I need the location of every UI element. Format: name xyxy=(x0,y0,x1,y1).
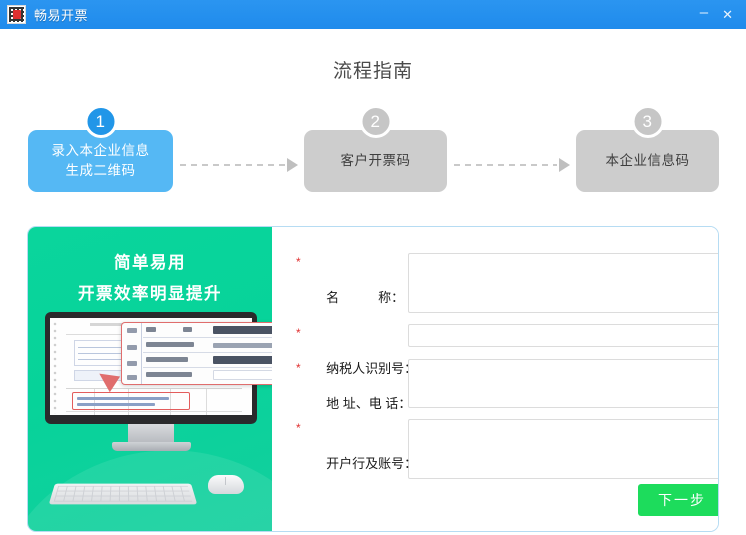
step-2-number: 2 xyxy=(359,105,392,138)
label-name: * 名 称： xyxy=(290,253,408,325)
keyboard-keys xyxy=(54,486,193,502)
invoice-footer-rule xyxy=(66,411,242,412)
promo-panel: 简单易用 开票效率明显提升 xyxy=(28,227,272,531)
dashed-line xyxy=(454,164,557,166)
label-bank-account-text: 开户行及账号： xyxy=(326,456,417,471)
app-title: 畅易开票 xyxy=(34,5,88,24)
mouse-illustration xyxy=(208,475,244,494)
arrow-right-icon xyxy=(287,158,298,172)
step-1-number: 1 xyxy=(84,105,117,138)
invoice-highlight-box xyxy=(72,392,190,410)
monitor-stand-neck xyxy=(128,424,174,442)
qrcode-app-icon xyxy=(7,5,26,24)
input-address-phone[interactable] xyxy=(408,359,719,408)
close-icon[interactable]: ✕ xyxy=(722,8,733,21)
window-controls: – ✕ xyxy=(700,8,746,21)
arrow-right-icon xyxy=(559,158,570,172)
content-panel: 简单易用 开票效率明显提升 xyxy=(27,226,719,532)
form-row-bank-account: * 开户行及账号： xyxy=(290,419,719,491)
company-info-form: * 名 称： * 纳税人识别号： * 地 址、电 话： xyxy=(272,227,718,531)
page-body: 流程指南 1 录入本企业信息 生成二维码 2 客户开票码 3 本企业信息码 xyxy=(0,29,746,535)
monitor-stand-base xyxy=(112,442,191,451)
label-bank-account: * 开户行及账号： xyxy=(290,419,408,491)
step-1-label: 录入本企业信息 生成二维码 xyxy=(52,141,150,181)
step-3-label: 本企业信息码 xyxy=(606,151,690,171)
invoice-zoom-callout xyxy=(121,322,272,385)
minimize-icon[interactable]: – xyxy=(700,6,708,19)
label-name-text: 名 称： xyxy=(326,290,404,305)
required-asterisk: * xyxy=(296,419,301,437)
keyboard-illustration xyxy=(49,484,197,505)
page-title: 流程指南 xyxy=(0,56,746,83)
step-indicator: 1 录入本企业信息 生成二维码 2 客户开票码 3 本企业信息码 xyxy=(0,104,746,219)
promo-text: 简单易用 开票效率明显提升 xyxy=(28,249,272,304)
required-asterisk: * xyxy=(296,359,301,377)
promo-line-2: 开票效率明显提升 xyxy=(28,280,272,304)
promo-line-1: 简单易用 xyxy=(28,249,272,273)
form-row-name: * 名 称： xyxy=(290,253,719,325)
step-connector-2 xyxy=(454,159,570,171)
dashed-line xyxy=(180,164,285,166)
input-company-name[interactable] xyxy=(408,253,719,313)
input-taxpayer-id[interactable] xyxy=(408,324,719,347)
label-address-phone-text: 地 址、电 话： xyxy=(326,396,411,411)
callout-side-label xyxy=(122,323,142,384)
required-asterisk: * xyxy=(296,324,301,342)
required-asterisk: * xyxy=(296,253,301,271)
input-bank-account[interactable] xyxy=(408,419,719,479)
invoice-perforation xyxy=(53,322,57,414)
step-connector-1 xyxy=(180,159,298,171)
next-step-button[interactable]: 下一步 xyxy=(638,484,719,516)
qrcode-center-mark xyxy=(13,10,21,19)
step-2-label: 客户开票码 xyxy=(341,151,411,171)
step-3-company-info-code[interactable]: 3 本企业信息码 xyxy=(576,130,719,192)
window-titlebar: 畅易开票 – ✕ xyxy=(0,0,746,29)
step-3-number: 3 xyxy=(631,105,664,138)
callout-pointer xyxy=(97,374,120,394)
step-1-enter-company-info[interactable]: 1 录入本企业信息 生成二维码 xyxy=(28,130,173,192)
step-2-customer-invoice-code[interactable]: 2 客户开票码 xyxy=(304,130,447,192)
